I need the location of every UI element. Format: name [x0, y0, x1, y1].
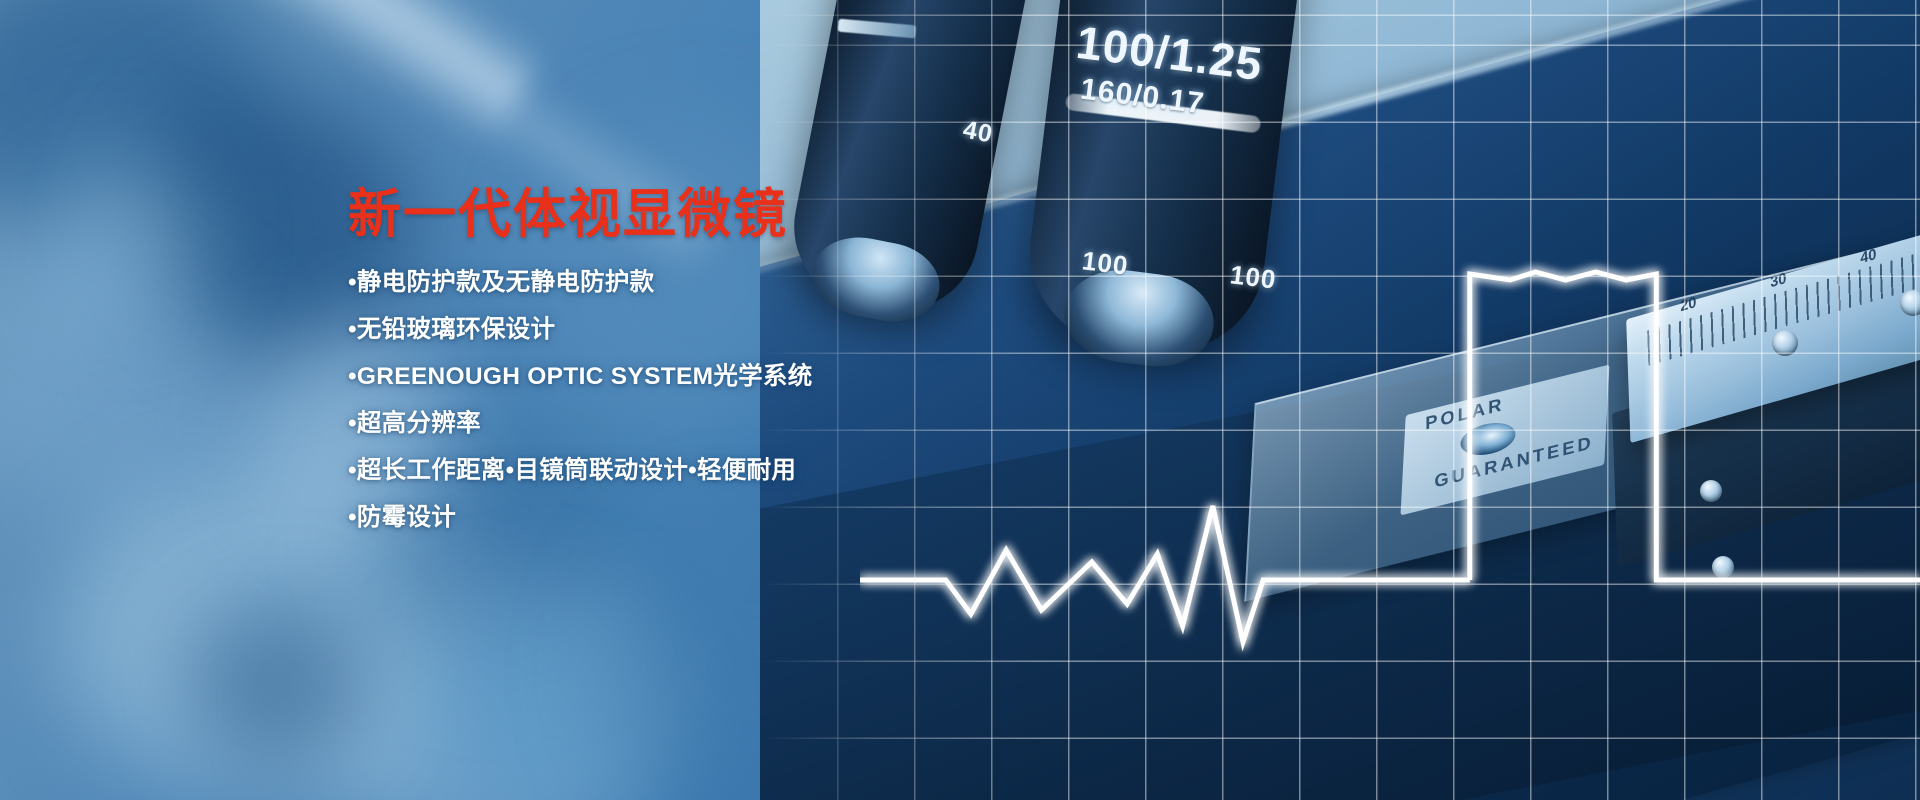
objective-left-band — [838, 19, 917, 39]
list-item: •GREENOUGH OPTIC SYSTEM光学系统 — [348, 365, 988, 390]
banner-root: POLAR GUARANTEED 20 30 40 50 40 100/1.25… — [0, 0, 1920, 800]
stage-screw — [1772, 330, 1798, 356]
list-item: •防霉设计 — [348, 506, 988, 531]
feature-list: •静电防护款及无静电防护款 •无铅玻璃环保设计 •GREENOUGH OPTIC… — [348, 271, 988, 531]
stage-screw — [1712, 556, 1734, 578]
list-item: •无铅玻璃环保设计 — [348, 318, 988, 343]
stage-screw — [1900, 290, 1920, 316]
objective-left-magnification-text: 40 — [961, 115, 996, 149]
objective-ring-right-text: 100 — [1228, 259, 1278, 295]
objective-ring-left-text: 100 — [1080, 245, 1130, 281]
page-title: 新一代体视显微镜 — [348, 186, 988, 243]
list-item: •超高分辨率 — [348, 412, 988, 437]
list-item: •超长工作距离•目镜筒联动设计•轻便耐用 — [348, 459, 988, 484]
copy-block: 新一代体视显微镜 •静电防护款及无静电防护款 •无铅玻璃环保设计 •GREENO… — [348, 186, 988, 553]
list-item: •静电防护款及无静电防护款 — [348, 271, 988, 296]
stage-screw — [1700, 480, 1722, 502]
